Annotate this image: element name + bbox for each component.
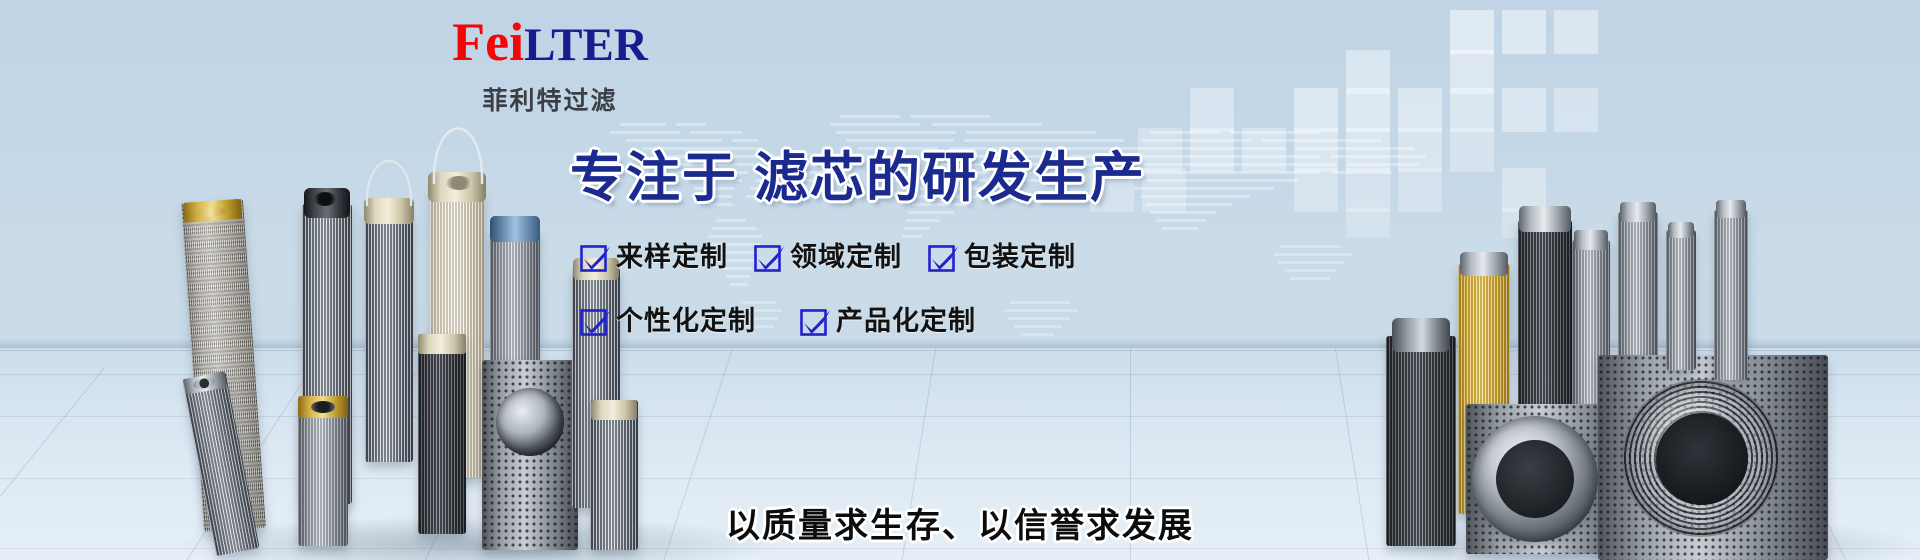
feature-item[interactable]: 来样定制 [580,243,728,273]
feature-label: 领域定制 [790,243,902,273]
checkbox-checked-icon [580,245,607,272]
filter-cartridge [365,212,413,462]
feature-label: 个性化定制 [616,307,756,337]
brand-wordmark-lter: LTER [524,19,648,71]
feature-row-2: 个性化定制 产品化定制 [580,307,1220,337]
headline-part1: 专注于 [570,146,738,209]
brand-wordmark-fei: Fei [452,12,524,72]
feature-item[interactable]: 产品化定制 [800,307,976,337]
checkbox-checked-icon [754,245,781,272]
filter-element [1714,210,1748,380]
feature-row-1: 来样定制 领域定制 包装定制 [580,243,1220,273]
feature-label: 包装定制 [964,243,1076,273]
brand-logo[interactable]: FeiLTER 菲利特过滤 [390,12,710,117]
filter-element [1666,230,1696,370]
filter-cartridge [418,334,466,534]
brand-chinese-name: 菲利特过滤 [390,81,710,117]
feature-label: 产品化定制 [836,307,976,337]
filter-cartridge-group-left [190,150,750,560]
feature-item[interactable]: 领域定制 [754,243,902,273]
checkbox-checked-icon [580,309,607,336]
headline-part2: 滤芯的研发生产 [754,146,1146,209]
feature-item[interactable]: 个性化定制 [580,307,756,337]
feature-list: 来样定制 领域定制 包装定制 [580,243,1220,337]
checkbox-checked-icon [928,245,955,272]
headline: 专注于滤芯的研发生产 [570,148,1146,208]
feature-label: 来样定制 [616,243,728,273]
promo-banner: FeiLTER 菲利特过滤 专注于滤芯的研发生产 来样定制 [0,0,1920,560]
tagline: 以质量求生存、以信誉求发展 [0,506,1920,546]
feature-item[interactable]: 包装定制 [928,243,1076,273]
checkbox-checked-icon [800,309,827,336]
brand-wordmark: FeiLTER [390,12,710,75]
